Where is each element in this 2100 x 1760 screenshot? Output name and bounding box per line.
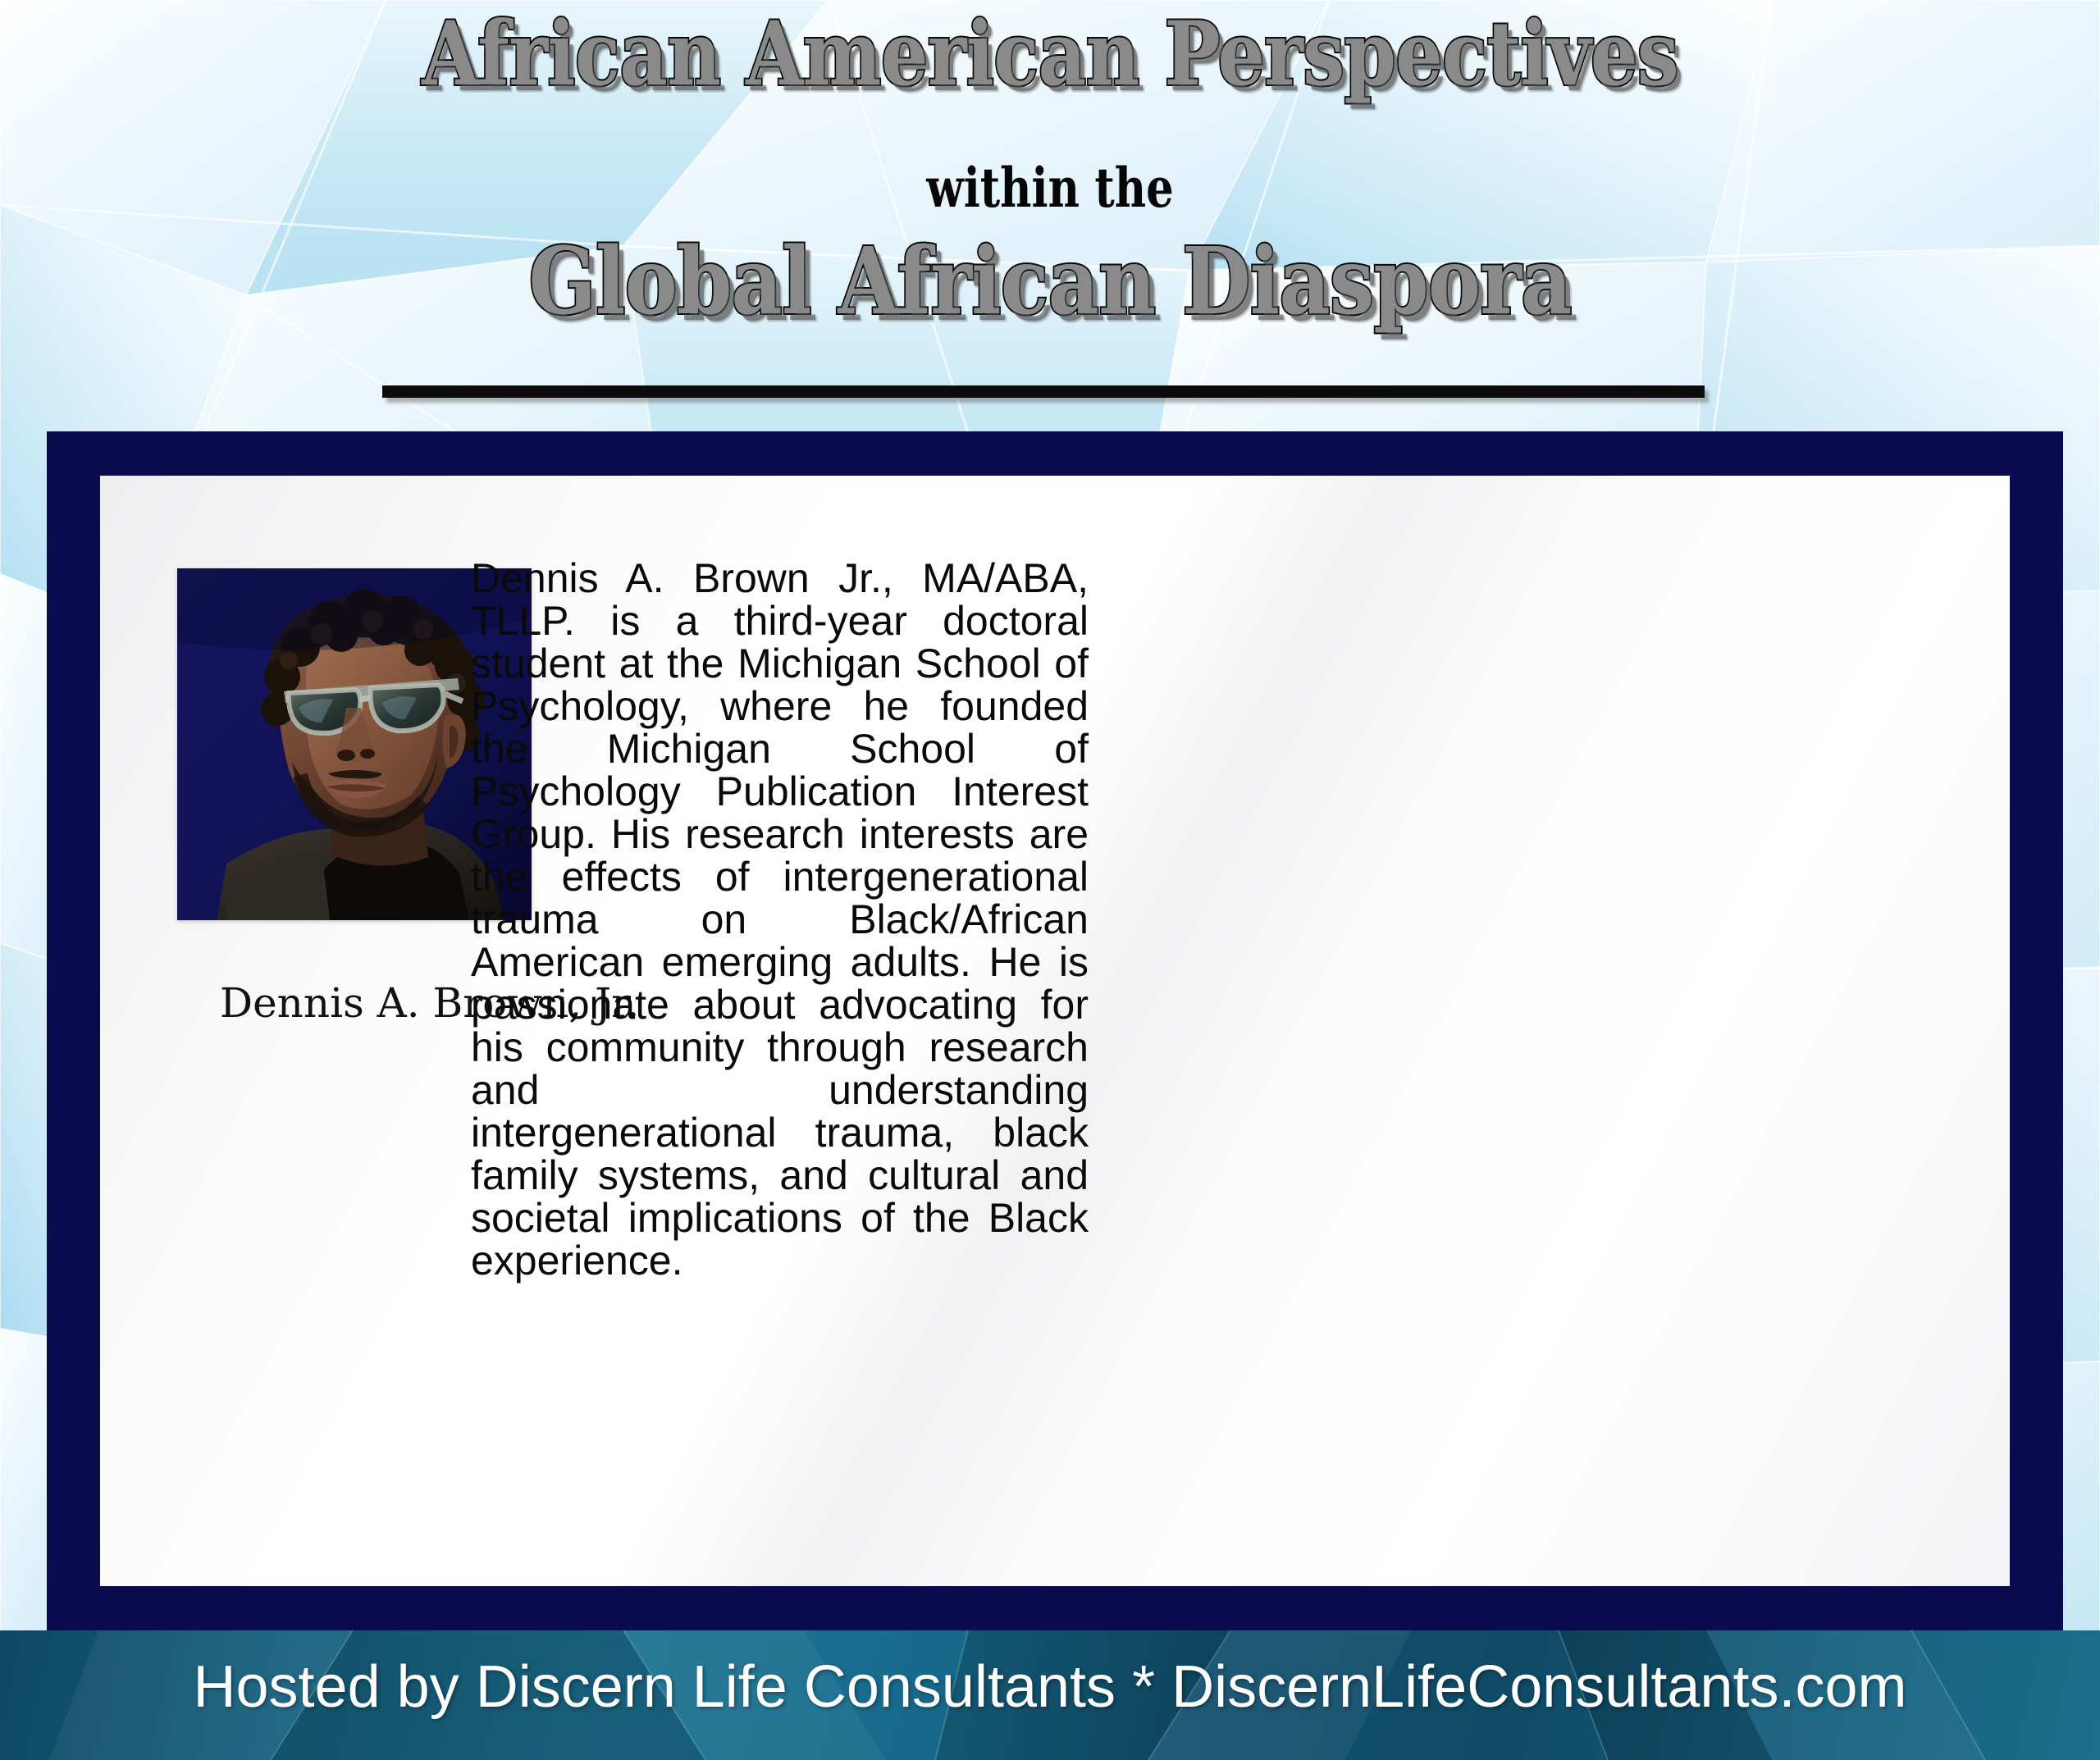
title-line-secondary: Global African Diaspora: [147, 236, 1953, 328]
poster-title-block: African American Perspectives within the…: [0, 0, 2100, 432]
title-underline-rule: [382, 385, 1705, 398]
footer-band: Hosted by Discern Life Consultants * Dis…: [0, 1630, 2100, 1760]
title-line-primary: African American Perspectives: [168, 10, 1932, 98]
title-line-connector: within the: [210, 161, 1890, 215]
flyer-poster: African American Perspectives within the…: [0, 0, 2100, 1760]
footer-host-credit: Hosted by Discern Life Consultants * Dis…: [0, 1653, 2100, 1721]
bio-paragraph: Dennis A. Brown Jr., MA/ABA, TLLP. is a …: [471, 557, 1089, 1282]
content-card: Dennis A. Brown, Jr. Dennis A. Brown Jr.…: [100, 476, 2010, 1586]
speaker-bio-text: Dennis A. Brown Jr., MA/ABA, TLLP. is a …: [471, 557, 1089, 1282]
